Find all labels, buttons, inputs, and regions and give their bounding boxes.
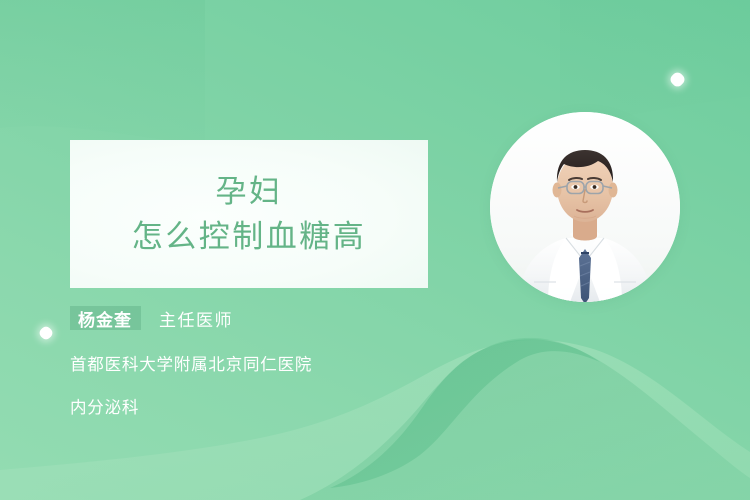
doctor-department: 内分泌科 (70, 394, 470, 418)
doctor-professional-title: 主任医师 (159, 306, 233, 331)
sparkle-diamond-icon (671, 73, 684, 86)
doctor-name: 杨金奎 (78, 306, 132, 331)
doctor-portrait-circle (490, 112, 680, 302)
doctor-name-badge: 杨金奎 (70, 306, 141, 330)
article-title-line-1: 孕妇 (216, 174, 283, 210)
doctor-hospital: 首都医科大学附属北京同仁医院 (70, 351, 470, 375)
doctor-info-block: 杨金奎 主任医师 首都医科大学附属北京同仁医院 内分泌科 (70, 303, 470, 418)
article-header-poster: 孕妇 怎么控制血糖高 杨金奎 主任医师 首都医科大学附属北京同仁医院 内分泌科 (0, 0, 750, 500)
doctor-portrait-photo (490, 112, 680, 302)
doctor-credit-row: 杨金奎 主任医师 (70, 303, 470, 333)
article-title-line-2: 怎么控制血糖高 (132, 219, 367, 255)
sparkle-diamond-icon (40, 327, 52, 339)
wave-top-left (0, 0, 205, 144)
article-title-card: 孕妇 怎么控制血糖高 (70, 140, 428, 288)
